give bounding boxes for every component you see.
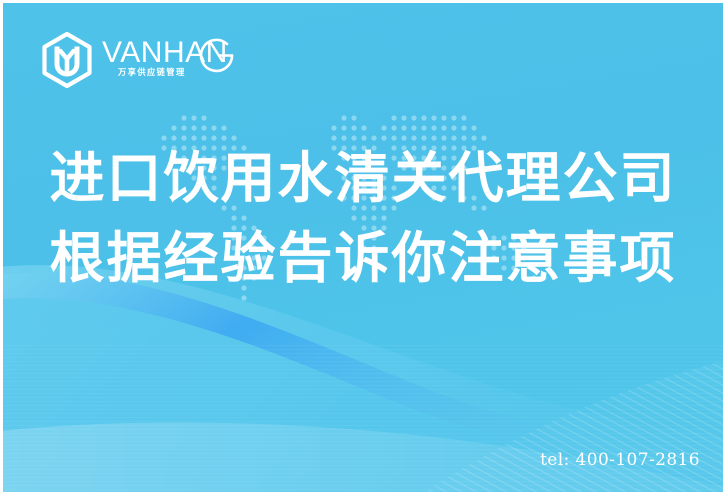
headline-line-2: 根据经验告诉你注意事项 [0,218,726,298]
brand-subtitle: 万享供应链管理 [118,66,186,78]
brand-logo[interactable]: VANHAN 万享供应链管理 [38,30,102,90]
contact-phone[interactable]: tel: 400-107-2816 [540,450,700,470]
headline-line-1: 进口饮用水清关代理公司 [0,138,726,218]
hexagon-v-logo-icon [38,31,96,89]
brand-letter-g-icon [194,31,240,77]
headline-block: 进口饮用水清关代理公司 根据经验告诉你注意事项 [0,138,726,298]
promo-banner: VANHAN 万享供应链管理 进口饮用水清关代理公司 根据经验告诉你注意事项 t… [0,0,726,495]
